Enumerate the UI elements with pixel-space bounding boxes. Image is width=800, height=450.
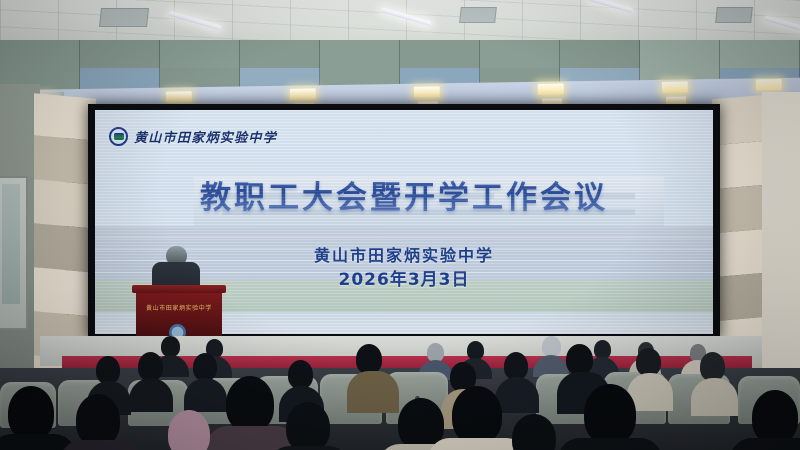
person-head	[76, 394, 120, 446]
school-crest-emblem-icon	[109, 127, 128, 146]
right-wall-plain	[762, 92, 800, 412]
ceiling-vent	[459, 7, 497, 23]
person-head	[452, 386, 502, 444]
wall-panel	[160, 40, 240, 68]
person-head	[566, 344, 593, 375]
wall-panel	[480, 40, 560, 68]
person-head	[226, 376, 274, 432]
ceiling	[0, 0, 800, 44]
wall-stripe	[34, 179, 96, 228]
podium-top-edge	[132, 285, 226, 293]
person-head	[700, 352, 725, 381]
slide-logo: 黄山市田家炳实验中学	[109, 127, 277, 146]
door-glass-panel	[2, 184, 20, 304]
person-head	[752, 390, 798, 444]
person-shoulders	[691, 378, 738, 416]
auditorium-photo: 黄山市田家炳实验中学 教职工大会暨开学工作会议 黄山市田家炳实验中学 2026年…	[0, 0, 800, 450]
person-head	[504, 352, 528, 380]
wall-panel	[80, 40, 160, 68]
wall-panel	[720, 40, 800, 68]
wall-panel	[320, 40, 400, 68]
person-head	[96, 356, 120, 384]
wall-stripe	[34, 135, 96, 184]
person-head	[542, 336, 561, 357]
wall-panel	[0, 40, 80, 68]
podium-text: 黄山市田家炳实验中学	[136, 303, 222, 312]
slide-title: 教职工大会暨开学工作会议	[95, 172, 713, 217]
person-head	[138, 352, 163, 381]
person-head	[8, 386, 54, 440]
recessed-light	[756, 79, 782, 90]
wall-stripe	[34, 93, 96, 140]
person-head	[193, 353, 217, 381]
person-head	[286, 402, 330, 450]
wall-stripe	[34, 223, 96, 272]
recessed-light	[414, 86, 440, 97]
recessed-light	[290, 88, 316, 99]
side-door[interactable]	[0, 176, 28, 330]
recessed-light	[166, 91, 192, 102]
recessed-light	[538, 83, 564, 94]
person-head	[168, 410, 210, 450]
ceiling-vent	[715, 7, 753, 23]
person-shoulders	[60, 440, 140, 450]
person-shoulders	[495, 377, 539, 413]
person-head	[161, 336, 180, 357]
wall-stripe	[34, 267, 96, 316]
wall-panel	[640, 40, 720, 68]
wall-panel	[560, 40, 640, 68]
wall-panel-row-upper	[0, 40, 800, 68]
recessed-light	[662, 81, 688, 92]
person-shoulders	[558, 438, 662, 450]
wall-panel	[400, 40, 480, 68]
person-head	[288, 360, 313, 389]
wall-panel	[240, 40, 320, 68]
person-shoulders	[347, 371, 399, 413]
person-head	[356, 344, 382, 374]
wall-panel	[80, 68, 160, 90]
person-head	[636, 348, 661, 376]
slide-logo-text: 黄山市田家炳实验中学	[134, 127, 277, 146]
person-head	[584, 384, 636, 444]
ceiling-vent	[99, 8, 149, 27]
emblem-inner-mark	[114, 133, 124, 140]
person-shoulders	[730, 438, 800, 450]
